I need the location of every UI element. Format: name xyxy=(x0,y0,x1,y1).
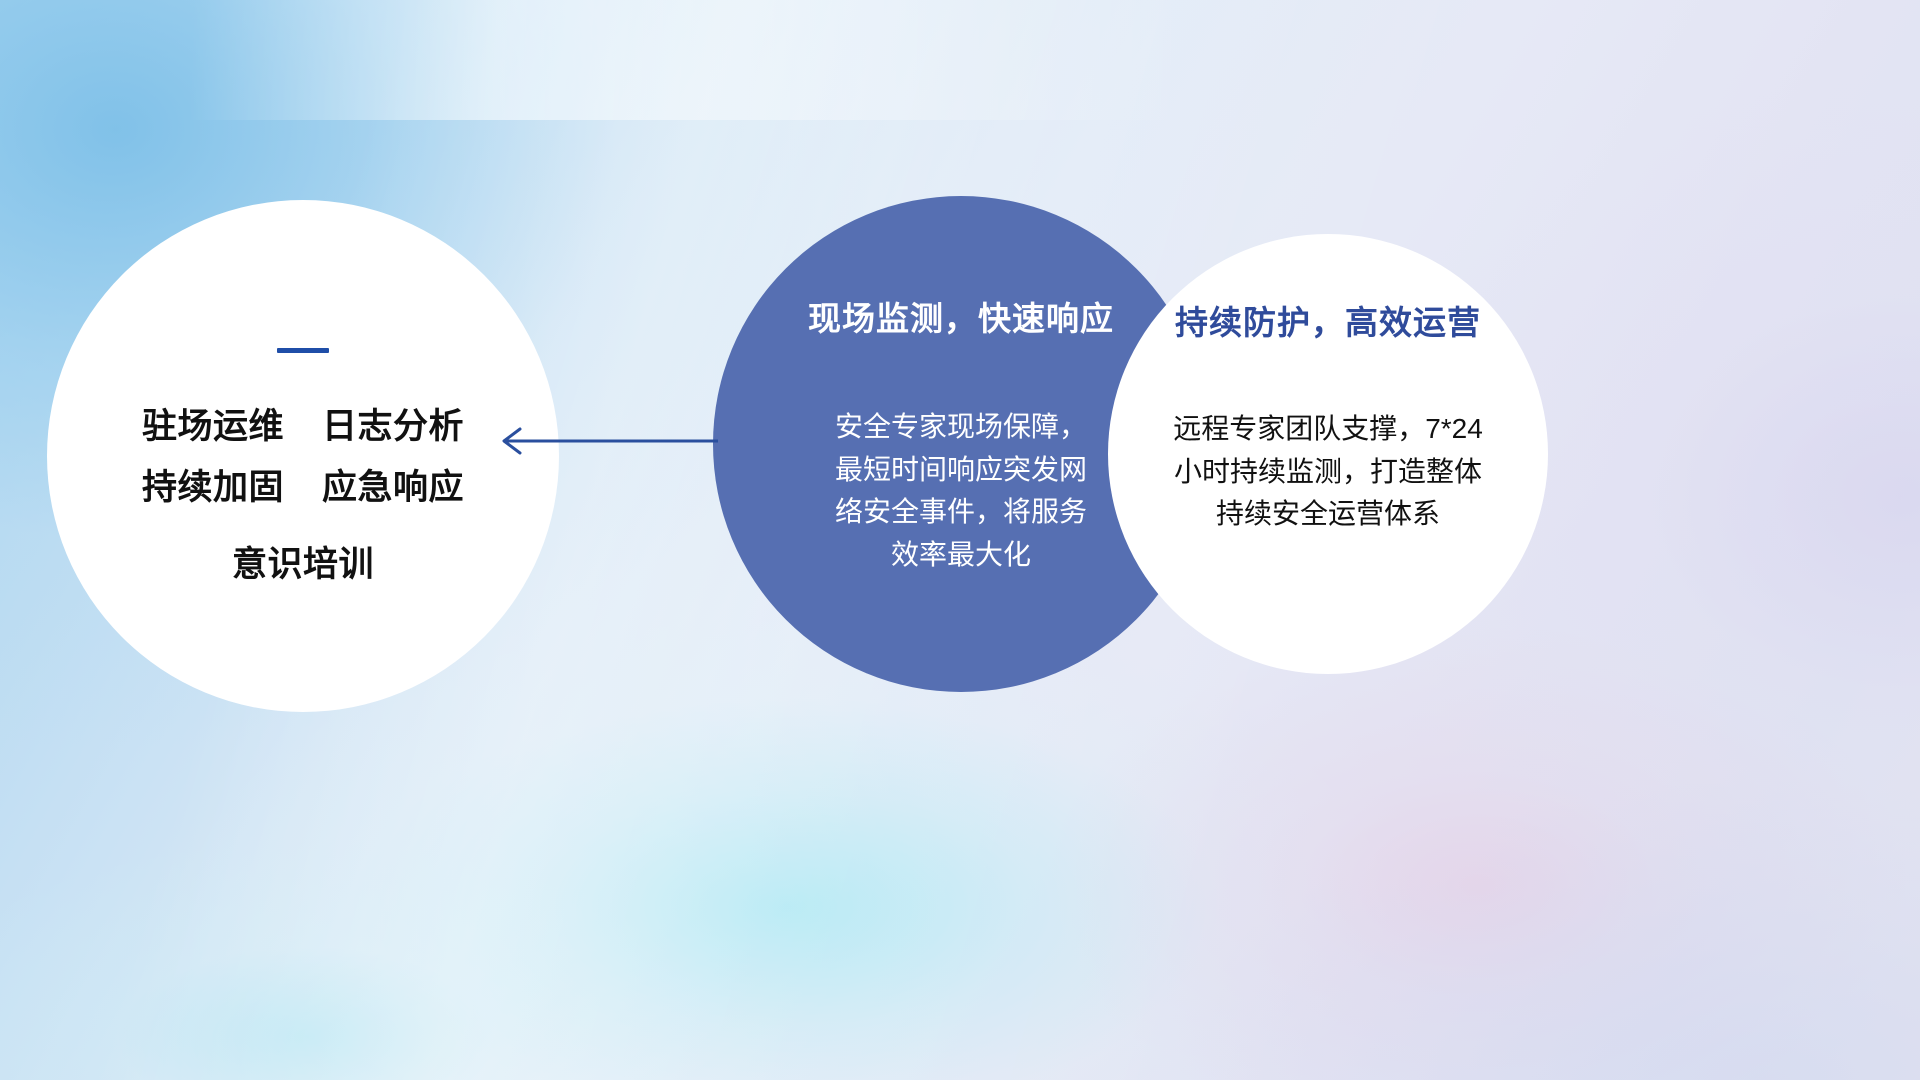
keyword-continuous-hardening: 持续加固 xyxy=(142,470,284,505)
body-line: 络安全事件，将服务 xyxy=(805,491,1117,534)
background-glow-top-streak xyxy=(0,0,1920,120)
continuous-protection-body: 远程专家团队支撑，7*24 小时持续监测，打造整体 持续安全运营体系 xyxy=(1155,408,1501,536)
keyword-log-analysis: 日志分析 xyxy=(322,409,464,444)
keyword-row-1: 驻场运维 日志分析 xyxy=(142,409,464,444)
capabilities-circle[interactable]: 驻场运维 日志分析 持续加固 应急响应 意识培训 xyxy=(47,200,559,712)
body-line: 小时持续监测，打造整体 xyxy=(1155,451,1501,494)
keyword-onsite-ops: 驻场运维 xyxy=(142,409,284,444)
leftward-arrow-icon xyxy=(490,418,720,464)
body-line: 远程专家团队支撑，7*24 xyxy=(1155,408,1501,451)
onsite-monitoring-title: 现场监测，快速响应 xyxy=(808,292,1114,340)
body-line: 安全专家现场保障， xyxy=(805,406,1117,449)
continuous-protection-title: 持续防护，高效运营 xyxy=(1175,296,1481,344)
slide-canvas: 驻场运维 日志分析 持续加固 应急响应 意识培训 现场监测，快速响应 安全专家现… xyxy=(0,0,1920,1080)
divider-dash-icon xyxy=(277,348,329,353)
keyword-row-3: 意识培训 xyxy=(232,547,374,582)
body-line: 最短时间响应突发网 xyxy=(805,449,1117,492)
keyword-awareness-training: 意识培训 xyxy=(232,547,374,582)
body-line: 效率最大化 xyxy=(805,534,1117,577)
keyword-emergency-response: 应急响应 xyxy=(322,470,464,505)
continuous-protection-circle[interactable]: 持续防护，高效运营 远程专家团队支撑，7*24 小时持续监测，打造整体 持续安全… xyxy=(1108,234,1548,674)
body-line: 持续安全运营体系 xyxy=(1155,493,1501,536)
keyword-row-2: 持续加固 应急响应 xyxy=(142,470,464,505)
onsite-monitoring-body: 安全专家现场保障， 最短时间响应突发网 络安全事件，将服务 效率最大化 xyxy=(805,406,1117,576)
